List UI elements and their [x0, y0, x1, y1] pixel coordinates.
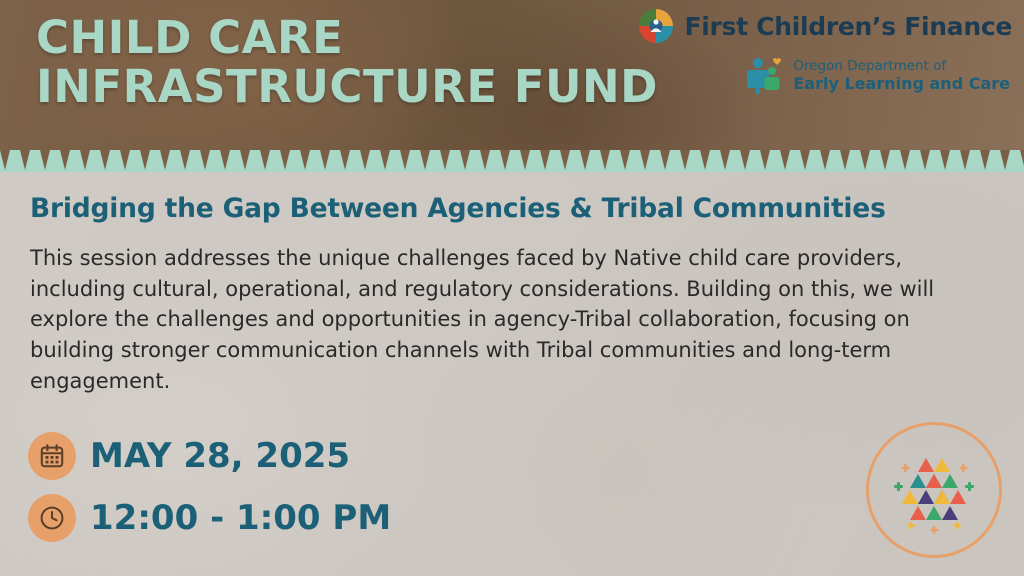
poster: CHILD CARE INFRASTRUCTURE FUND First Chi… [0, 0, 1024, 576]
header-banner: CHILD CARE INFRASTRUCTURE FUND First Chi… [0, 0, 1024, 150]
session-subtitle: Bridging the Gap Between Agencies & Trib… [30, 193, 1004, 224]
event-time-label: 12:00 - 1:00 PM [90, 498, 391, 538]
zigzag-divider [0, 150, 1024, 172]
triangle-pattern-emblem [866, 422, 1002, 558]
oregon-delc-label: Oregon Department of Early Learning and … [793, 57, 1010, 93]
session-description: This session addresses the unique challe… [30, 243, 990, 396]
page-title-line1: CHILD CARE [36, 14, 658, 63]
event-date-row: MAY 28, 2025 [28, 432, 391, 480]
page-title: CHILD CARE INFRASTRUCTURE FUND [36, 14, 658, 111]
event-date-label: MAY 28, 2025 [90, 436, 350, 476]
calendar-icon [28, 432, 76, 480]
parent-child-heart-icon [745, 56, 785, 94]
page-title-line2: INFRASTRUCTURE FUND [36, 63, 658, 112]
first-childrens-finance-label: First Children’s Finance [684, 12, 1012, 41]
oregon-delc-line1: Oregon Department of [793, 58, 946, 74]
clock-icon [28, 494, 76, 542]
oregon-delc-logo: Oregon Department of Early Learning and … [745, 56, 1010, 94]
oregon-delc-line2: Early Learning and Care [793, 74, 1010, 93]
event-time-row: 12:00 - 1:00 PM [28, 494, 391, 542]
event-details: MAY 28, 2025 12:00 - 1:00 PM [28, 432, 391, 556]
first-childrens-finance-logo: First Children’s Finance [638, 8, 1012, 44]
colorful-circle-logo-icon [638, 8, 674, 44]
